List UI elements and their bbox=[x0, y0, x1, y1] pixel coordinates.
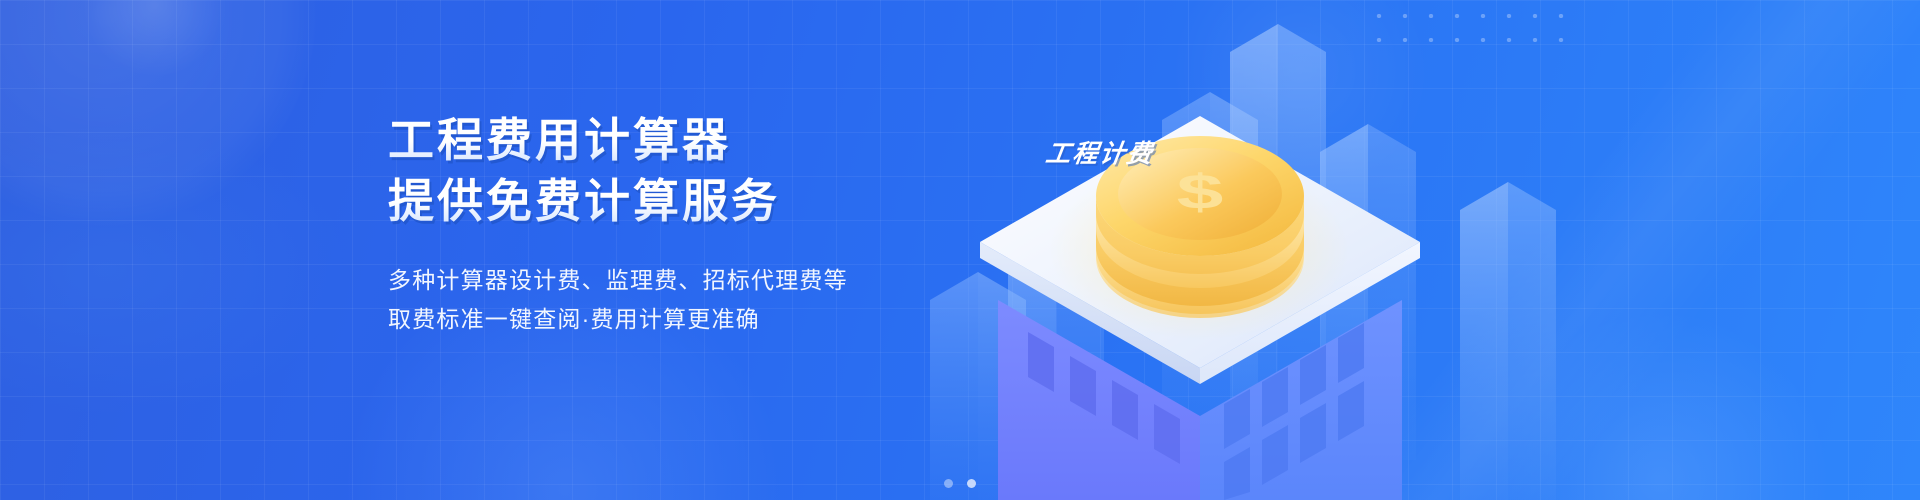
banner-copy: 工程费用计算器 提供免费计算服务 多种计算器设计费、监理费、招标代理费等 取费标… bbox=[388, 112, 1008, 339]
carousel-indicator[interactable] bbox=[0, 479, 1920, 488]
headline-line-1: 工程费用计算器 bbox=[388, 112, 1008, 168]
left-glow bbox=[0, 120, 360, 420]
headline-line-2: 提供免费计算服务 bbox=[388, 173, 1008, 229]
subtitle-line-2: 取费标准一键查阅·费用计算更准确 bbox=[388, 300, 1008, 339]
dollar-sign-icon: $ bbox=[1177, 165, 1224, 220]
svg-text:$: $ bbox=[1177, 165, 1224, 220]
promo-banner: $ 工程计费 工程费用计算器 提供免费计算服务 多种计算器设计费、监理费、招标代… bbox=[0, 0, 1920, 500]
subtitle-line-1: 多种计算器设计费、监理费、招标代理费等 bbox=[388, 261, 1008, 300]
decorative-circle-small bbox=[80, 0, 230, 80]
illustration-label: 工程计费 bbox=[1043, 134, 1156, 170]
carousel-dot-1[interactable] bbox=[944, 479, 953, 488]
carousel-dot-2[interactable] bbox=[967, 479, 976, 488]
